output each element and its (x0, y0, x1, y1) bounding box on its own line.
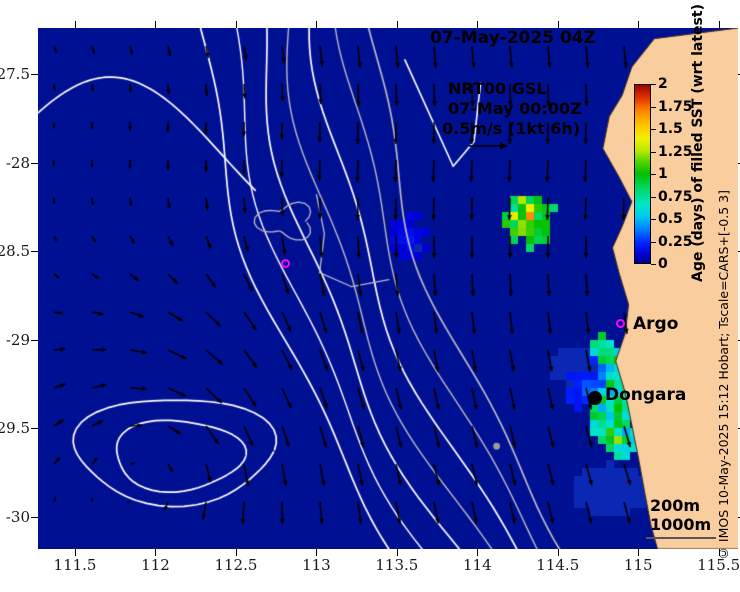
y-tick-label: -28 (6, 154, 30, 172)
colorbar-tick-label: 1.25 (658, 144, 693, 160)
model-timestamp-label: 07-May 00:00Z (448, 99, 582, 118)
colorbar-tick (651, 152, 656, 153)
x-tick-top (477, 21, 478, 28)
y-tick-label: -28.5 (0, 242, 30, 260)
depth-key-shallow: 200m (650, 496, 711, 515)
x-tick (316, 549, 317, 556)
colorbar-tick-label: 0.75 (658, 189, 693, 205)
colorbar-title: Age (days) of filled SST (wrt latest) (690, 82, 706, 282)
x-tick-label: 113.5 (375, 556, 418, 574)
model-source-label: NRT00 GSL (448, 79, 547, 98)
colorbar-tick-label: 1.5 (658, 121, 683, 137)
x-tick-label: 114.5 (536, 556, 579, 574)
colorbar-tick (651, 84, 656, 85)
x-tick-top (638, 21, 639, 28)
colorbar-tick-label: 1.75 (658, 99, 693, 115)
reference-arrow-icon (468, 140, 508, 152)
x-tick (558, 549, 559, 556)
vector-scale-label: 0.5m/s (1kt 6h) (442, 119, 580, 138)
copyright-credit: © IMOS 10-May-2025 15:12 Hobart; Tscale=… (716, 190, 731, 561)
x-tick (477, 549, 478, 556)
x-tick (638, 549, 639, 556)
argo-float-marker[interactable] (281, 259, 290, 268)
y-tick-label: -29 (6, 331, 30, 349)
colorbar-tick-label: 0.5 (658, 211, 683, 227)
y-tick (31, 517, 38, 518)
x-tick (155, 549, 156, 556)
colorbar-tick-label: 0.25 (658, 234, 693, 250)
x-tick-label: 112.5 (214, 556, 257, 574)
y-tick (31, 428, 38, 429)
y-tick (31, 251, 38, 252)
colorbar-tick (651, 129, 656, 130)
colorbar-tick-label: 1 (658, 166, 668, 182)
x-tick-label: 114 (463, 556, 492, 574)
colorbar-tick (651, 174, 656, 175)
x-tick-label: 111.5 (54, 556, 97, 574)
x-tick (397, 549, 398, 556)
x-tick (75, 549, 76, 556)
y-tick (31, 340, 38, 341)
y-tick (31, 74, 38, 75)
x-tick-top (397, 21, 398, 28)
y-tick-label: -30 (6, 508, 30, 526)
x-tick-top (719, 21, 720, 28)
y-tick-label: -29.5 (0, 419, 30, 437)
current-vector-field (38, 28, 738, 549)
argo-legend-label: Argo (633, 314, 678, 334)
x-tick-top (558, 21, 559, 28)
dongara-station-label: Dongara (605, 385, 686, 405)
depth-key-deep: 1000m (650, 515, 711, 534)
colorbar-tick (651, 242, 656, 243)
colorbar-container[interactable] (634, 84, 651, 264)
y-tick-label: -27.5 (0, 65, 30, 83)
x-tick-label: 113 (302, 556, 331, 574)
y-tick (31, 163, 38, 164)
x-tick-label: 115 (624, 556, 653, 574)
colorbar-tick-label: 0 (658, 256, 668, 272)
x-tick-top (236, 21, 237, 28)
x-tick-top (316, 21, 317, 28)
figure-root: 07-May-2025 04Z NRT00 GSL 07-May 00:00Z … (0, 0, 740, 592)
argo-legend-marker (616, 319, 625, 328)
valid-time-label: 07-May-2025 04Z (430, 28, 596, 48)
dongara-station-marker[interactable] (588, 391, 602, 405)
colorbar-tick (651, 107, 656, 108)
colorbar-gradient (634, 84, 651, 264)
map-plot-area[interactable] (38, 28, 738, 549)
x-tick (236, 549, 237, 556)
x-tick-top (155, 21, 156, 28)
depth-key-rule (646, 537, 716, 539)
colorbar-tick (651, 264, 656, 265)
colorbar-tick (651, 197, 656, 198)
x-tick-label: 112 (141, 556, 170, 574)
colorbar-tick (651, 219, 656, 220)
depth-contour-key: 200m 1000m (650, 496, 711, 534)
colorbar-tick-label: 2 (658, 76, 668, 92)
x-tick-top (75, 21, 76, 28)
